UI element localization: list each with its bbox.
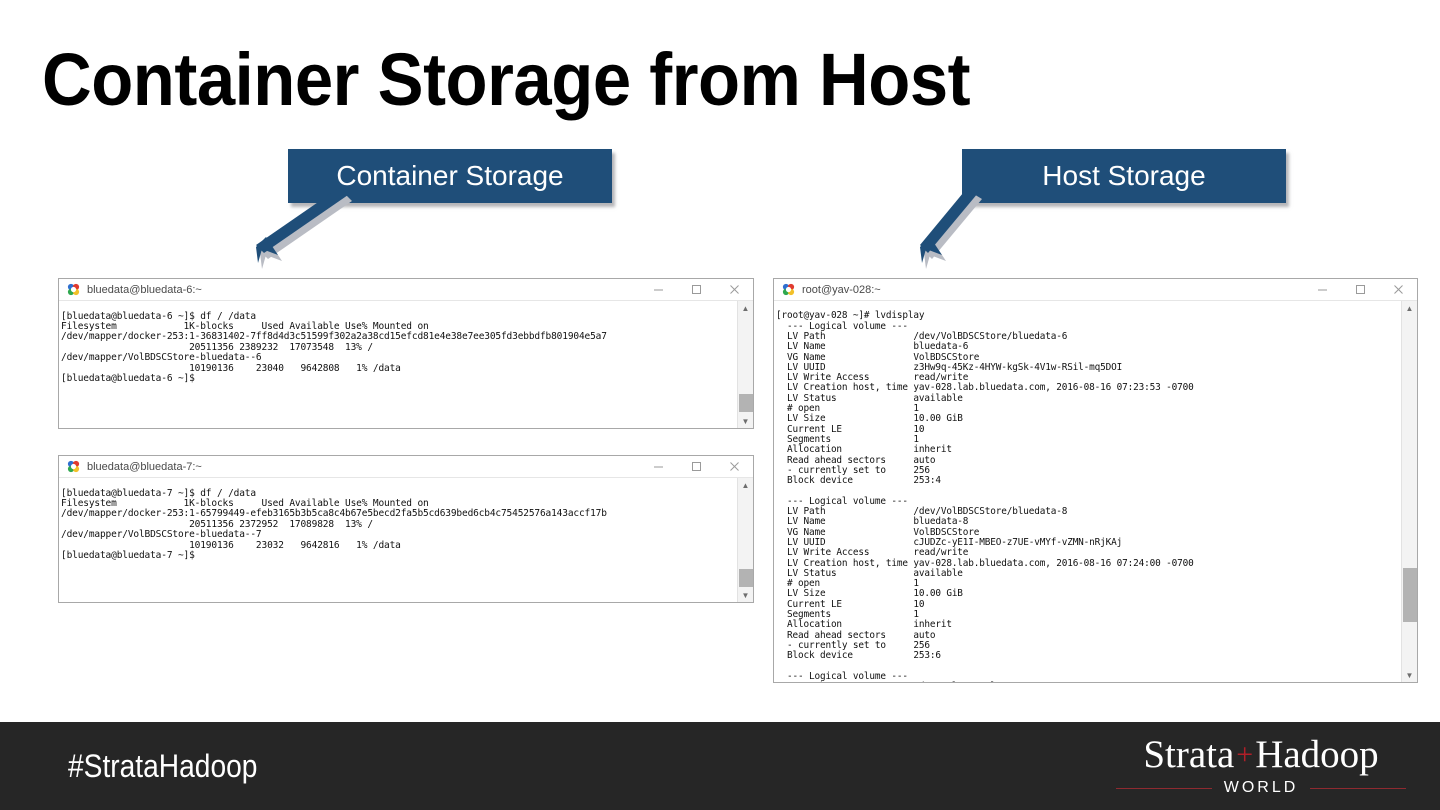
callout-host-storage: Host Storage [962,149,1286,203]
scrollbar-thumb[interactable] [1403,568,1417,621]
terminal-output: [bluedata@bluedata-6 ~]$ df / /data File… [61,312,736,385]
logo-plus-icon: + [1234,738,1255,771]
scroll-down-icon[interactable]: ▼ [738,414,753,429]
scroll-up-icon[interactable]: ▲ [738,301,753,316]
scroll-down-icon[interactable]: ▼ [1402,668,1417,683]
terminal-body[interactable]: [bluedata@bluedata-7 ~]$ df / /data File… [59,478,753,603]
scrollbar-thumb[interactable] [739,569,753,587]
footer-bar: #StrataHadoop Strata+Hadoop WORLD [0,722,1440,810]
callout-container-storage-label: Container Storage [336,162,563,190]
logo-rule-right [1310,788,1406,789]
logo-word-world: WORLD [1212,779,1311,797]
scrollbar[interactable]: ▲ ▼ [737,478,753,603]
terminal-body[interactable]: [root@yav-028 ~]# lvdisplay --- Logical … [774,301,1417,683]
scrollbar[interactable]: ▲ ▼ [1401,301,1417,683]
window-title: root@yav-028:~ [802,284,881,296]
terminal-window-bluedata-6[interactable]: bluedata@bluedata-6:~ [bluedata@bluedata… [58,278,754,429]
close-icon[interactable] [1379,279,1417,300]
putty-icon [67,460,80,473]
logo-word-hadoop: Hadoop [1255,733,1378,776]
footer-hashtag: #StrataHadoop [68,748,257,785]
logo-word-strata: Strata [1143,733,1234,776]
window-controls[interactable] [639,456,753,477]
terminal-output: [bluedata@bluedata-7 ~]$ df / /data File… [61,489,736,562]
close-icon[interactable] [715,279,753,300]
maximize-icon[interactable] [677,279,715,300]
logo-rule-left [1116,788,1212,789]
callout-container-storage: Container Storage [288,149,612,203]
maximize-icon[interactable] [677,456,715,477]
window-controls[interactable] [639,279,753,300]
close-icon[interactable] [715,456,753,477]
window-controls[interactable] [1303,279,1417,300]
scroll-down-icon[interactable]: ▼ [738,588,753,603]
page-title: Container Storage from Host [42,34,970,126]
putty-icon [782,283,795,296]
window-titlebar[interactable]: bluedata@bluedata-6:~ [59,279,753,301]
putty-icon [67,283,80,296]
terminal-window-yav-028[interactable]: root@yav-028:~ [root@yav-028 ~]# lvdispl… [773,278,1418,683]
minimize-icon[interactable] [639,279,677,300]
window-title: bluedata@bluedata-6:~ [87,284,202,296]
maximize-icon[interactable] [1341,279,1379,300]
window-titlebar[interactable]: root@yav-028:~ [774,279,1417,301]
minimize-icon[interactable] [1303,279,1341,300]
terminal-body[interactable]: [bluedata@bluedata-6 ~]$ df / /data File… [59,301,753,429]
window-titlebar[interactable]: bluedata@bluedata-7:~ [59,456,753,478]
callout-host-storage-label: Host Storage [1042,162,1205,190]
strata-hadoop-world-logo: Strata+Hadoop WORLD [1116,734,1406,800]
scroll-up-icon[interactable]: ▲ [738,478,753,493]
terminal-output: [root@yav-028 ~]# lvdisplay --- Logical … [776,311,1400,683]
minimize-icon[interactable] [639,456,677,477]
terminal-window-bluedata-7[interactable]: bluedata@bluedata-7:~ [bluedata@bluedata… [58,455,754,603]
logo-subtitle-row: WORLD [1116,779,1406,797]
window-title: bluedata@bluedata-7:~ [87,461,202,473]
scroll-up-icon[interactable]: ▲ [1402,301,1417,316]
logo-wordmark: Strata+Hadoop [1116,734,1406,776]
scrollbar[interactable]: ▲ ▼ [737,301,753,429]
scrollbar-thumb[interactable] [739,394,753,412]
